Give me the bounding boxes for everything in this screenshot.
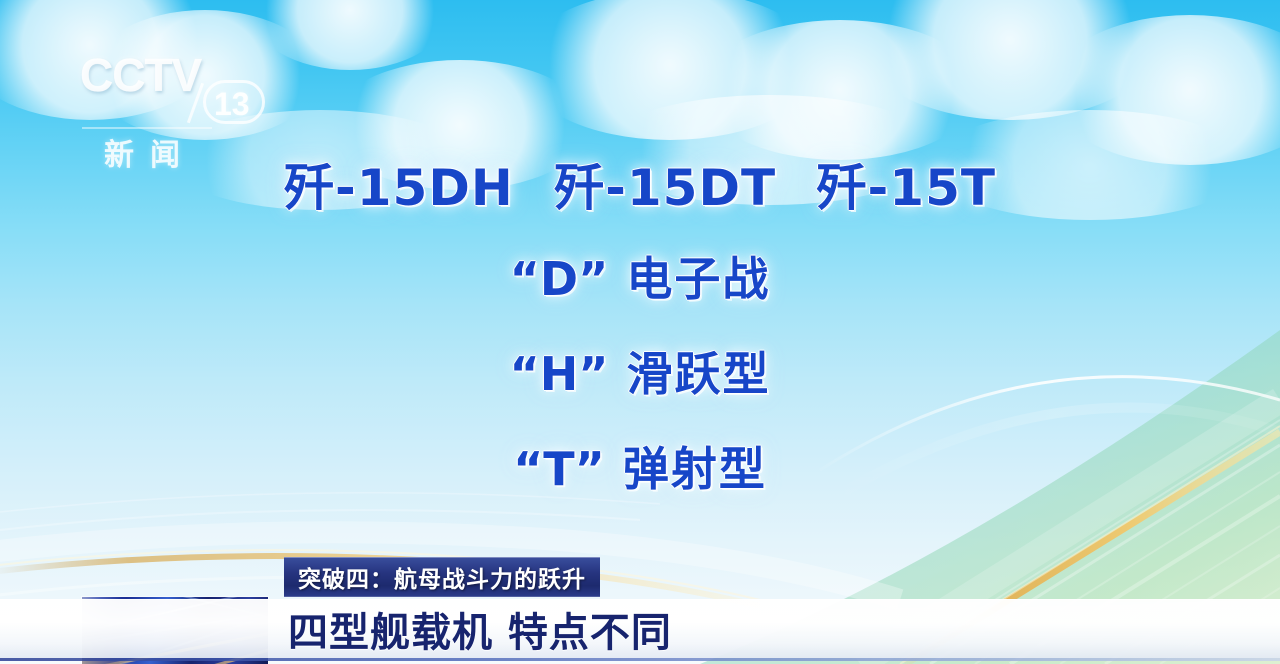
lower-third-kicker-text: 突破四：航母战斗力的跃升 — [298, 560, 586, 594]
lower-third: 突破四：航母战斗力的跃升 四型舰载机 特点不同 — [0, 0, 1280, 664]
broadcast-screen: CCTV 13 新闻 歼-15DH 歼-15DT 歼-15T “D” 电子战 “… — [0, 0, 1280, 664]
lower-third-kicker: 突破四：航母战斗力的跃升 — [284, 557, 600, 597]
lower-third-bar-underline — [0, 658, 1280, 661]
lower-third-headline: 四型舰载机 特点不同 — [288, 601, 672, 657]
